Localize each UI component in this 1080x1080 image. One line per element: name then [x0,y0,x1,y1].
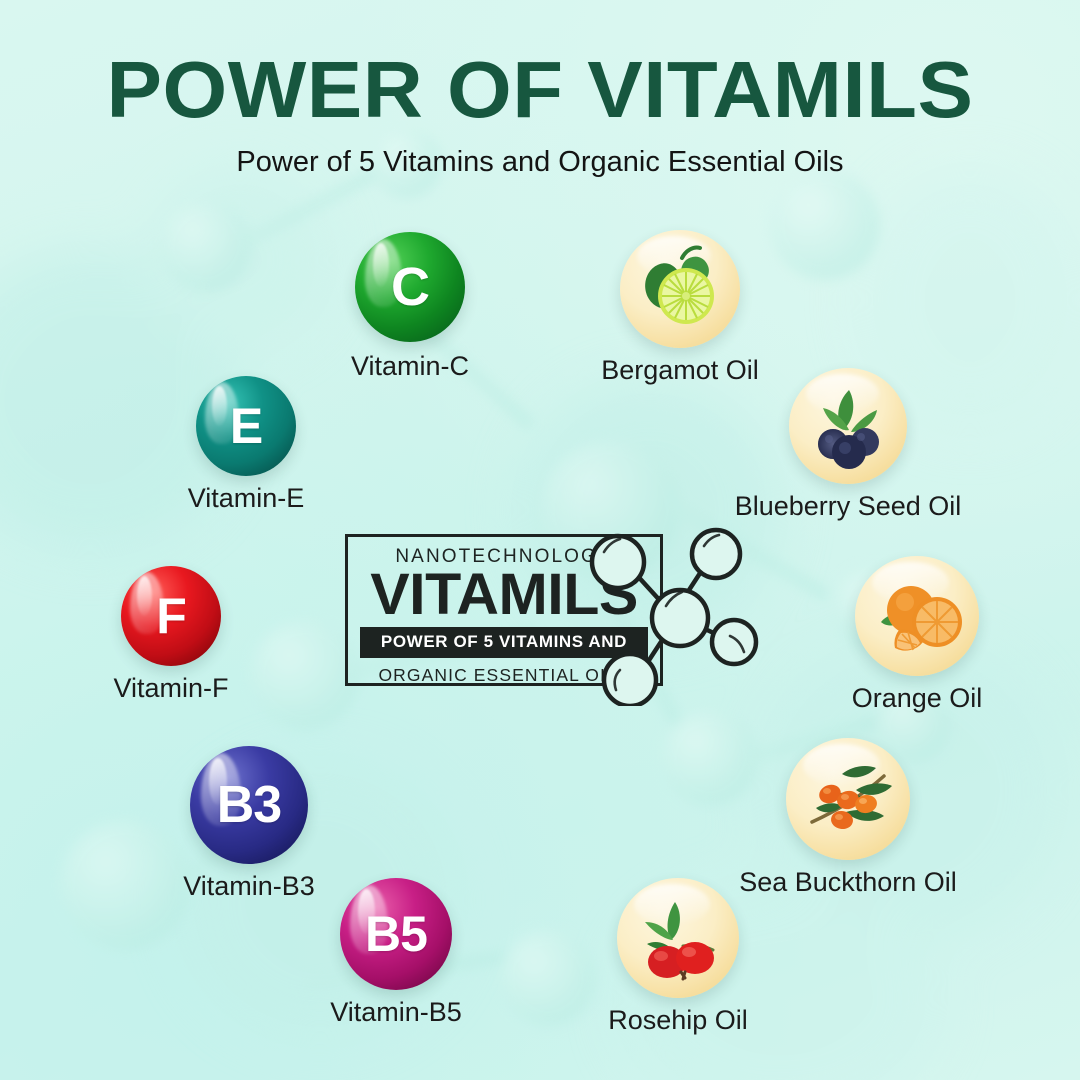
vitamin-letter: B5 [340,878,452,990]
oil-label-bergamot: Bergamot Oil [601,354,759,386]
vitamin-letter: E [196,376,296,476]
vitamin-item-e[interactable]: E Vitamin-E [196,376,296,476]
header: POWER OF VITAMILS Power of 5 Vitamins an… [0,46,1080,180]
vitamin-item-f[interactable]: F Vitamin-F [121,566,221,666]
vitamin-item-b5[interactable]: B5 Vitamin-B5 [340,878,452,990]
oil-item-blueberry[interactable]: Blueberry Seed Oil [789,368,907,484]
sea-buckthorn-berries-icon [786,738,910,860]
oil-item-sea-buckthorn[interactable]: Sea Buckthorn Oil [786,738,910,860]
oil-item-orange[interactable]: Orange Oil [855,556,979,676]
vitamin-label-f: Vitamin-F [113,672,228,704]
bergamot-fruit-icon [620,230,740,348]
oil-label-blueberry: Blueberry Seed Oil [735,490,962,522]
oil-label-sea-buckthorn: Sea Buckthorn Oil [738,866,958,898]
sphere-vitamin-f-icon: F [121,566,221,666]
oil-label-rosehip: Rosehip Oil [608,1004,748,1036]
rosehip-berries-icon [617,878,739,998]
oil-item-rosehip[interactable]: Rosehip Oil [617,878,739,998]
vitamin-label-c: Vitamin-C [351,350,469,382]
sphere-vitamin-b5-icon: B5 [340,878,452,990]
vitamin-label-b5: Vitamin-B5 [330,996,462,1028]
vitamin-item-c[interactable]: C Vitamin-C [355,232,465,342]
sphere-vitamin-c-icon: C [355,232,465,342]
vitamin-label-b3: Vitamin-B3 [183,870,315,902]
vitamin-letter: F [121,566,221,666]
oil-label-orange: Orange Oil [852,682,983,714]
oil-item-bergamot[interactable]: Bergamot Oil [620,230,740,348]
vitamin-letter: C [355,232,465,342]
sphere-vitamin-b3-icon: B3 [190,746,308,864]
vitamin-label-e: Vitamin-E [188,482,305,514]
vitamin-item-b3[interactable]: B3 Vitamin-B3 [190,746,308,864]
orange-fruit-icon [855,556,979,676]
blueberries-icon [789,368,907,484]
page-subtitle: Power of 5 Vitamins and Organic Essentia… [0,144,1080,180]
molecule-icon [578,524,766,706]
infographic-canvas: POWER OF VITAMILS Power of 5 Vitamins an… [0,0,1080,1080]
page-title: POWER OF VITAMILS [0,46,1080,134]
vitamin-letter: B3 [190,746,308,864]
sphere-vitamin-e-icon: E [196,376,296,476]
